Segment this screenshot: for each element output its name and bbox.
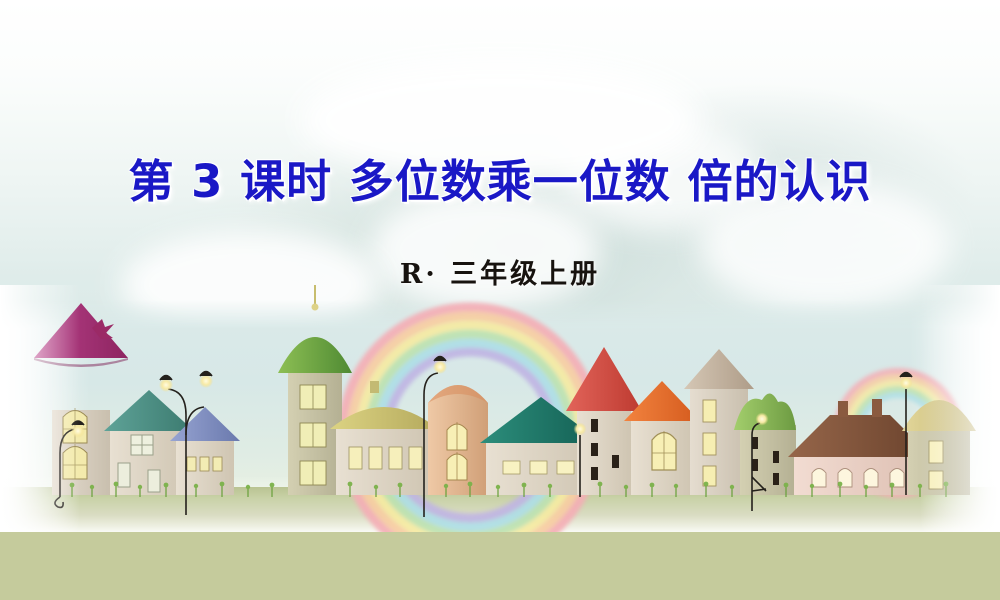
- subtitle-block: R· 三年级上册: [0, 252, 1000, 291]
- title-block: 第 3 课时 多位数乘一位数 倍的认识: [0, 158, 1000, 206]
- bottom-green-bar: [0, 532, 1000, 600]
- slide-canvas: 第 3 课时 多位数乘一位数 倍的认识 R· 三年级上册: [0, 0, 1000, 600]
- page-subtitle: R· 三年级上册: [400, 252, 600, 291]
- village-illustration: [0, 285, 1000, 532]
- building-orange-roof-house: [624, 381, 700, 495]
- building-dome-tower: [902, 400, 976, 495]
- building-mossy-green-roof-house: [734, 393, 796, 495]
- page-title: 第 3 课时 多位数乘一位数 倍的认识: [129, 158, 872, 206]
- building-orange-arch-tower: [428, 385, 488, 495]
